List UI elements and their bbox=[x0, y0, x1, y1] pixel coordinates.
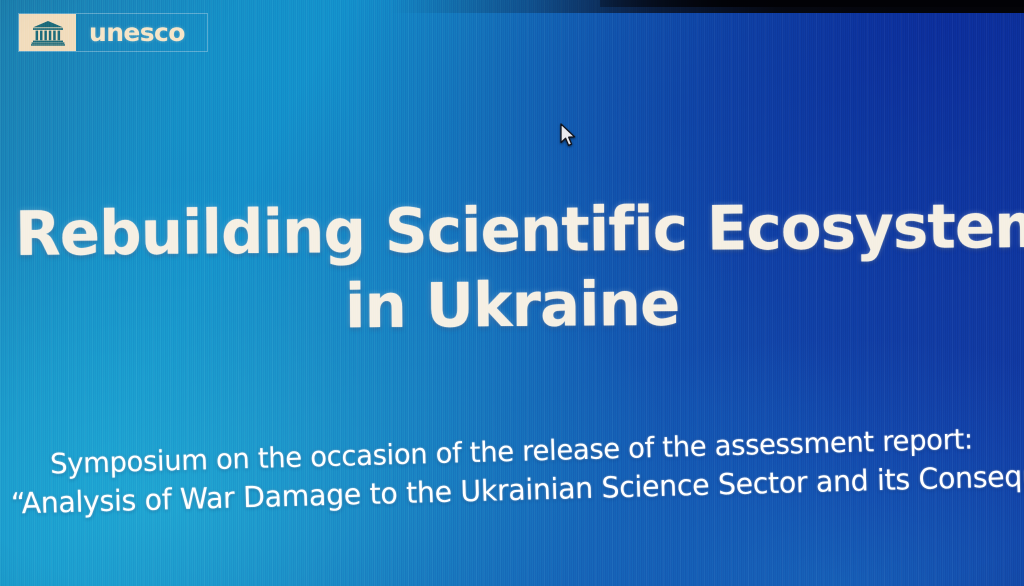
unesco-wordmark: unesco bbox=[76, 14, 207, 51]
unesco-logo: unesco bbox=[18, 13, 208, 52]
presentation-slide: unesco Rebuilding Scientific Ecosystem i… bbox=[0, 0, 1024, 586]
unesco-temple-icon bbox=[19, 14, 76, 51]
slide-title-line-2: in Ukraine bbox=[15, 267, 1009, 345]
slide-title: Rebuilding Scientific Ecosystem in Ukrai… bbox=[0, 192, 1024, 345]
slide-title-line-1: Rebuilding Scientific Ecosystem bbox=[15, 192, 1009, 270]
